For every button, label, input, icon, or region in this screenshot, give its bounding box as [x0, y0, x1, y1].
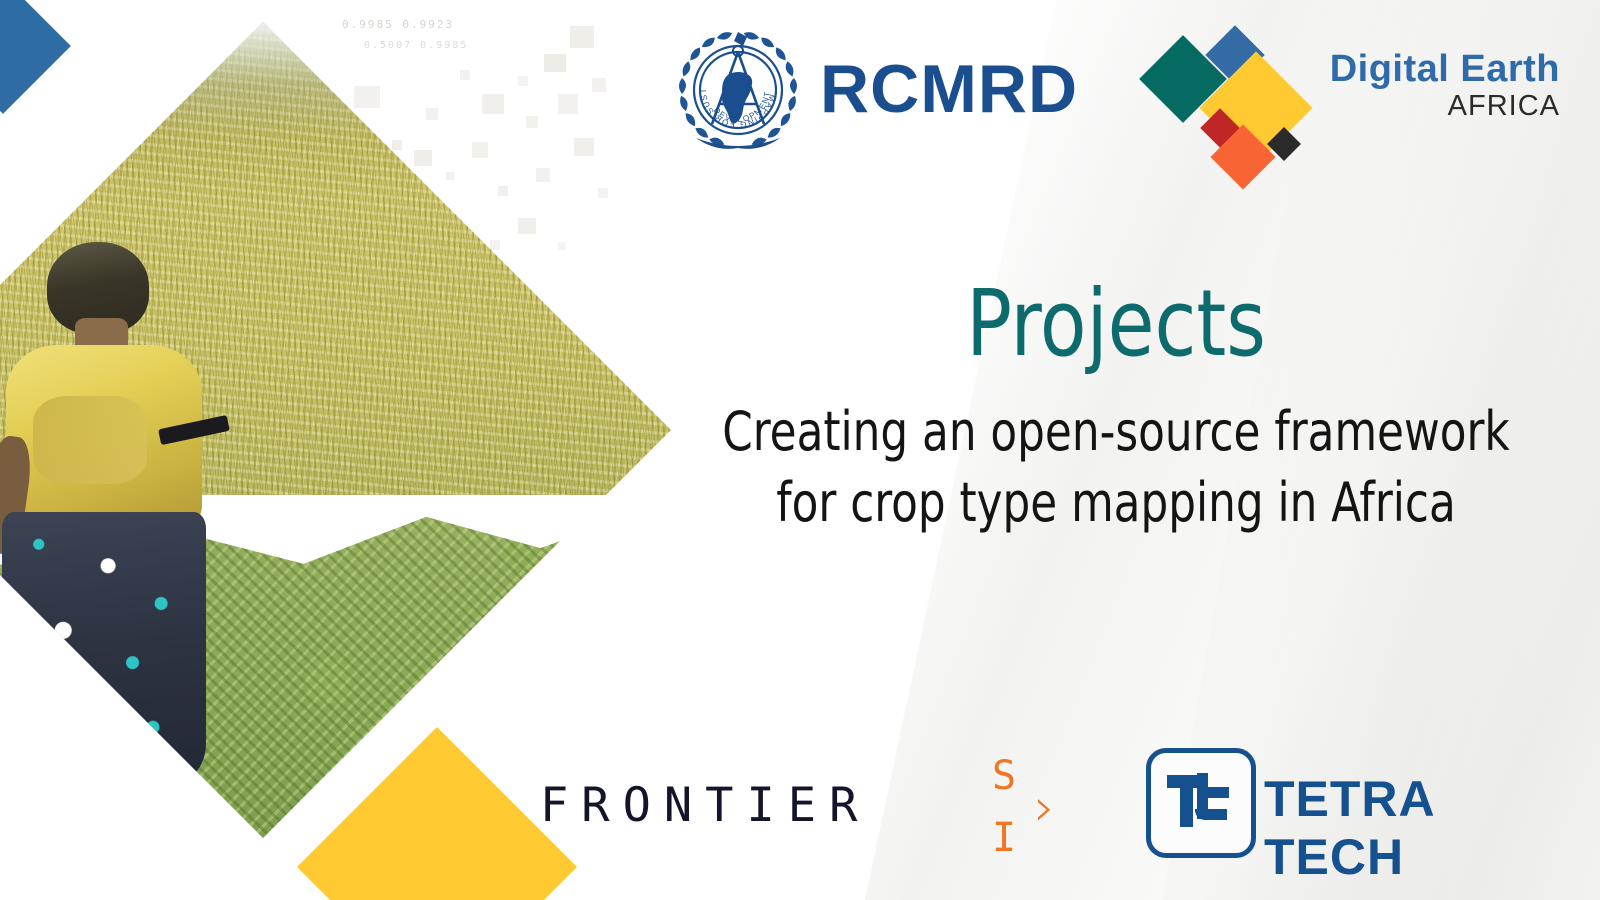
presentation-slide: 0.9985 0.9923 0.5007 0.9985: [0, 0, 1600, 900]
frontiersi-letter-s: S: [980, 756, 1028, 796]
tetra-tech-monogram-icon: [1167, 773, 1237, 831]
frontiersi-si-mark: S I: [980, 752, 1028, 860]
rcmrd-emblem-icon: MAPPING FOR SUSTAINABLE DEVELOPMENT: [668, 20, 808, 160]
page-subtitle: Creating an open-source framework for cr…: [716, 396, 1515, 539]
rcmrd-logo: MAPPING FOR SUSTAINABLE DEVELOPMENT RCMR…: [668, 20, 1088, 160]
pixel-text-line-1: 0.9985 0.9923: [342, 18, 592, 31]
dea-line-2: AFRICA: [1308, 90, 1560, 123]
page-title: Projects: [708, 278, 1525, 370]
tetra-tech-logo: TETRA TECH: [1142, 742, 1562, 858]
farmer-in-field-photo: [0, 22, 671, 838]
blue-corner-diamond: [0, 0, 71, 114]
dea-line-1: Digital Earth: [1308, 50, 1560, 90]
tetra-tech-monogram-box: [1146, 748, 1256, 858]
dea-diamond-mark: [1140, 22, 1300, 158]
frontiersi-wordmark: FRONTIER: [540, 778, 870, 833]
pixel-text-line-2: 0.5007 0.9985: [364, 40, 614, 51]
photo-top-haze: [0, 22, 671, 136]
digital-earth-africa-logo: Digital Earth AFRICA: [1140, 22, 1560, 158]
farmer-figure: [2, 242, 206, 781]
chevron-right-icon: ›: [1034, 782, 1055, 834]
farmer-patterned-skirt: [2, 512, 206, 781]
tetra-tech-wordmark: TETRA TECH: [1264, 770, 1562, 886]
rcmrd-wordmark: RCMRD: [820, 50, 1078, 128]
headline-block: Projects Creating an open-source framewo…: [672, 278, 1560, 539]
frontiersi-letter-i: I: [980, 818, 1028, 858]
frontiersi-logo: FRONTIER S I ›: [540, 752, 1080, 862]
dea-wordmark: Digital Earth AFRICA: [1308, 50, 1560, 123]
farmer-yellow-shirt: [6, 345, 202, 528]
